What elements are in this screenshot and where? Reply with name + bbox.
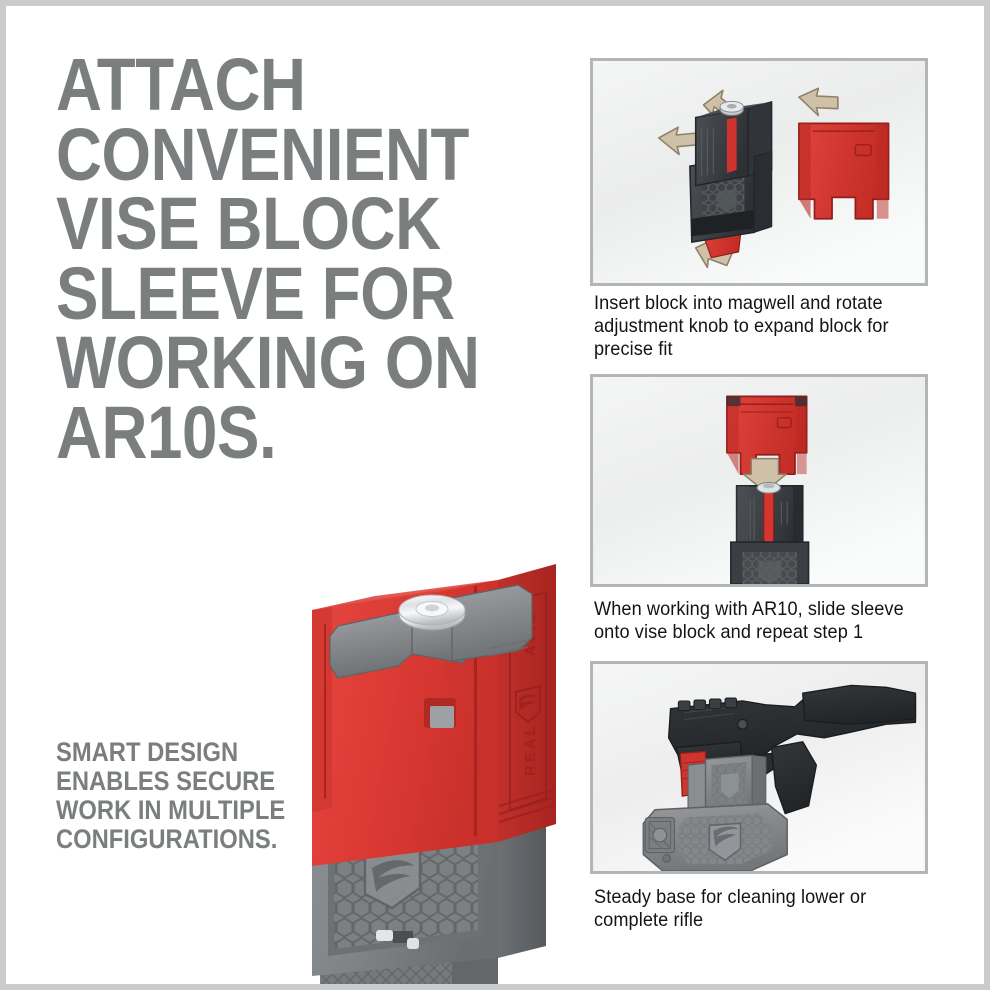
infographic-page: ATTACH CONVENIENT VISE BLOCK SLEEVE FOR … [0, 0, 990, 990]
hero-adjustment-knob [399, 595, 465, 630]
step-panel-2 [590, 374, 928, 587]
hero-sleeve-slot [424, 698, 456, 728]
step-caption-3: Steady base for cleaning lower or comple… [594, 886, 910, 932]
base-knob-icon [645, 818, 674, 853]
vise-block-illustration [731, 482, 809, 584]
step-panel-3 [590, 661, 928, 874]
step-caption-2: When working with AR10, slide sleeve ont… [594, 598, 910, 644]
vise-knob-icon [720, 101, 743, 115]
step-panel-1 [590, 58, 928, 286]
step-caption-1: Insert block into magwell and rotate adj… [594, 292, 910, 360]
hero-brand-text: REAL [522, 723, 539, 776]
vise-base-illustration [643, 804, 787, 871]
hero-product-image: REAL AVID [302, 506, 570, 990]
page-headline: ATTACH CONVENIENT VISE BLOCK SLEEVE FOR … [56, 50, 486, 467]
vise-knob-icon [757, 482, 780, 493]
takedown-pin-icon [738, 719, 748, 729]
subcopy-text: SMART DESIGN ENABLES SECURE WORK IN MULT… [56, 738, 320, 855]
